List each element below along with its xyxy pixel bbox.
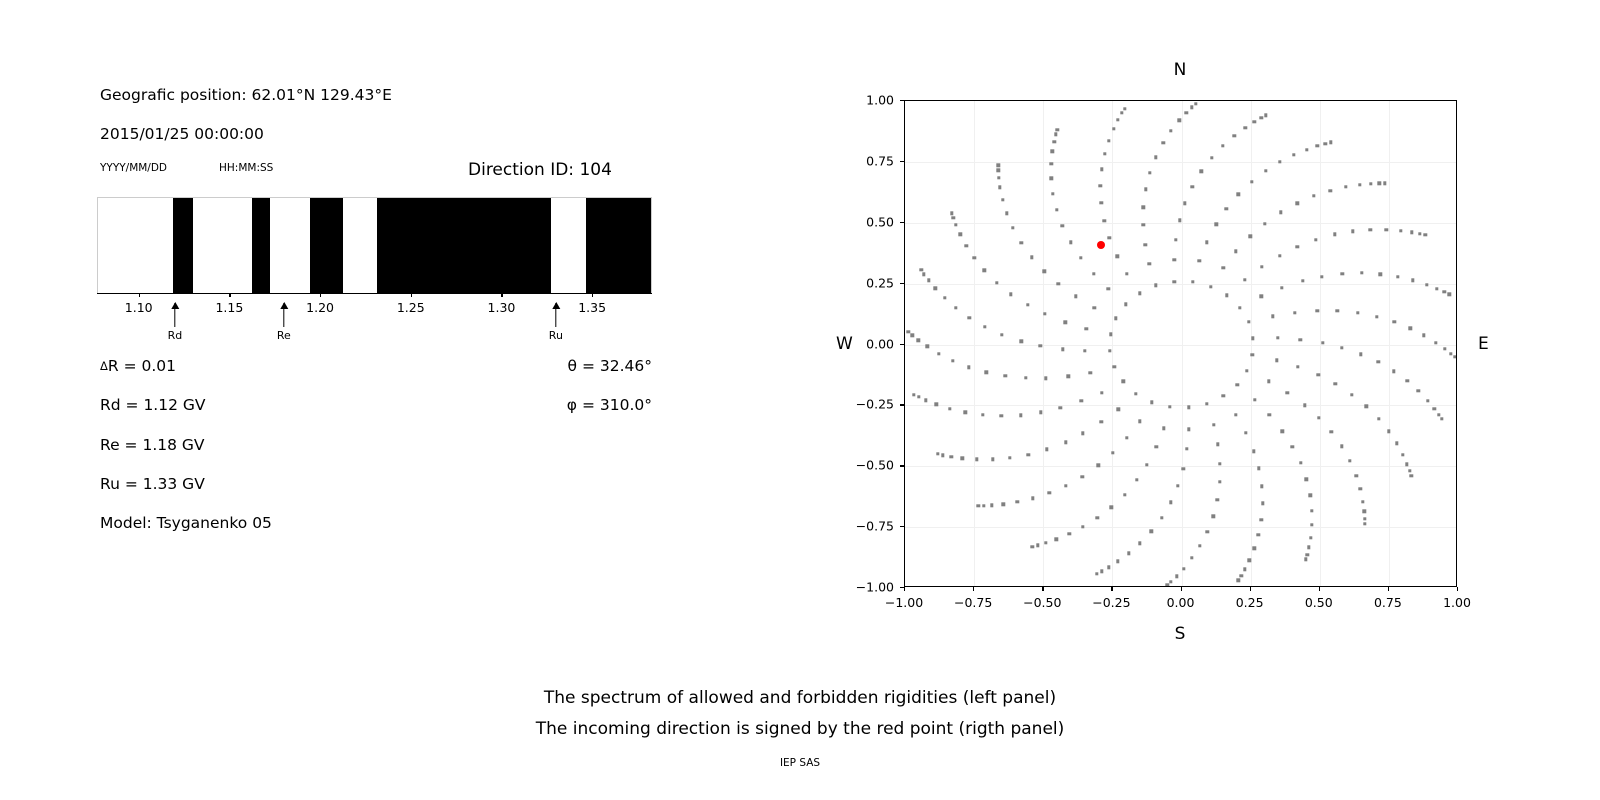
scatter-point xyxy=(936,452,939,455)
scatter-point xyxy=(1121,380,1124,383)
y-axis-tick-mark xyxy=(900,465,904,466)
scatter-point xyxy=(954,223,957,226)
scatter-point xyxy=(1267,380,1270,383)
scatter-point xyxy=(1113,365,1116,368)
scatter-point xyxy=(998,186,1001,189)
scatter-point xyxy=(1191,185,1194,188)
scatter-point xyxy=(1054,133,1057,136)
scatter-point xyxy=(1316,373,1319,376)
scatter-point xyxy=(1112,127,1115,130)
y-axis-tick-label: −0.75 xyxy=(848,519,894,534)
scatter-point xyxy=(1169,501,1172,504)
scatter-point xyxy=(1050,162,1053,165)
scatter-point xyxy=(1245,369,1248,372)
scatter-point xyxy=(1000,333,1003,336)
scatter-point xyxy=(1448,293,1451,296)
scatter-point xyxy=(958,232,961,235)
scatter-point xyxy=(917,338,920,341)
scatter-point xyxy=(1027,453,1030,456)
scatter-point xyxy=(1095,572,1098,575)
scatter-point xyxy=(1190,106,1193,109)
scatter-point xyxy=(1069,241,1072,244)
scatter-point xyxy=(1096,516,1099,519)
scatter-point xyxy=(1099,184,1102,187)
y-axis-tick-label: 0.00 xyxy=(848,336,894,351)
scatter-point xyxy=(1221,144,1224,147)
scatter-point xyxy=(1194,102,1197,105)
scatter-point xyxy=(1321,341,1324,344)
gridline-vertical xyxy=(1112,101,1113,586)
scatter-point xyxy=(1116,255,1119,258)
y-axis-tick-mark xyxy=(900,526,904,527)
gridline-horizontal xyxy=(905,527,1456,528)
scatter-point xyxy=(1279,211,1282,214)
scatter-point xyxy=(1166,584,1169,587)
scatter-point xyxy=(1299,461,1302,464)
scatter-point xyxy=(1116,118,1119,121)
scatter-point xyxy=(927,279,930,282)
scatter-point xyxy=(997,176,1000,179)
scatter-point xyxy=(1268,413,1271,416)
scatter-point xyxy=(1218,462,1221,465)
scatter-point xyxy=(1125,272,1128,275)
scatter-point xyxy=(1291,445,1294,448)
scatter-point xyxy=(1019,340,1022,343)
scatter-point xyxy=(1026,303,1029,306)
gridline-vertical xyxy=(974,101,975,586)
scatter-point xyxy=(1399,229,1402,232)
scatter-point xyxy=(1443,347,1446,350)
scatter-point xyxy=(1260,265,1263,268)
scatter-point xyxy=(1117,407,1120,410)
scatter-point xyxy=(1340,445,1343,448)
scatter-point xyxy=(1340,346,1343,349)
scatter-point xyxy=(1379,272,1382,275)
scatter-point xyxy=(1216,443,1219,446)
scatter-point xyxy=(1169,580,1172,583)
scatter-point xyxy=(1064,484,1067,487)
scatter-point xyxy=(975,458,978,461)
gridline-vertical xyxy=(1251,101,1252,586)
scatter-point xyxy=(1392,369,1395,372)
y-axis-tick-label: 1.00 xyxy=(848,93,894,108)
scatter-point xyxy=(967,365,970,368)
x-axis-tick-mark xyxy=(904,587,905,591)
scatter-point xyxy=(1405,462,1408,465)
scatter-point xyxy=(1051,192,1054,195)
scatter-point xyxy=(948,407,951,410)
scatter-point xyxy=(991,458,994,461)
scatter-point xyxy=(1125,436,1128,439)
x-axis-tick-mark xyxy=(1319,587,1320,591)
scatter-point xyxy=(1355,474,1358,477)
scatter-point xyxy=(1154,155,1157,158)
scatter-point xyxy=(1162,427,1165,430)
scatter-point xyxy=(982,504,985,507)
scatter-point xyxy=(1358,183,1361,186)
scatter-point xyxy=(1067,375,1070,378)
scatter-point xyxy=(1252,450,1255,453)
scatter-point xyxy=(1083,349,1086,352)
scatter-point xyxy=(1103,219,1106,222)
scatter-point xyxy=(1016,500,1019,503)
scatter-point xyxy=(1114,317,1117,320)
gridline-horizontal xyxy=(905,223,1456,224)
scatter-point xyxy=(1135,478,1138,481)
scatter-point xyxy=(1244,431,1247,434)
scatter-point xyxy=(1210,156,1213,159)
scatter-point xyxy=(1173,280,1176,283)
scatter-point xyxy=(1251,353,1254,356)
scatter-point xyxy=(1148,262,1151,265)
scatter-point xyxy=(1409,474,1412,477)
scatter-point xyxy=(961,456,964,459)
scatter-point xyxy=(1030,255,1033,258)
scatter-point xyxy=(1116,560,1119,563)
scatter-point xyxy=(1068,532,1071,535)
scatter-point xyxy=(1169,129,1172,132)
scatter-point xyxy=(1009,293,1012,296)
scatter-point xyxy=(1205,240,1208,243)
scatter-point xyxy=(1320,275,1323,278)
scatter-point xyxy=(937,352,940,355)
scatter-point xyxy=(1281,429,1284,432)
scatter-point xyxy=(1260,484,1263,487)
gridline-vertical xyxy=(1389,101,1390,586)
scatter-point xyxy=(1211,515,1214,518)
scatter-point xyxy=(1257,533,1260,536)
scatter-point xyxy=(952,216,955,219)
y-axis-tick-label: 0.25 xyxy=(848,275,894,290)
scatter-point xyxy=(1424,233,1427,236)
scatter-point xyxy=(1154,445,1157,448)
scatter-point xyxy=(1303,404,1306,407)
scatter-point xyxy=(922,273,925,276)
scatter-point xyxy=(1280,286,1283,289)
scatter-point xyxy=(1453,355,1456,358)
scatter-point xyxy=(997,169,1000,172)
scatter-point xyxy=(1110,506,1113,509)
scatter-point xyxy=(1437,413,1440,416)
scatter-point xyxy=(1312,194,1315,197)
scatter-point xyxy=(1385,228,1388,231)
scatter-point xyxy=(1369,182,1372,185)
scatter-point xyxy=(1393,320,1396,323)
scatter-point xyxy=(1081,432,1084,435)
direction-map-panel: −1.00−0.75−0.50−0.250.000.250.500.751.00… xyxy=(0,0,1600,680)
scatter-point xyxy=(1055,208,1058,211)
scatter-point xyxy=(1257,467,1260,470)
scatter-point xyxy=(1176,484,1179,487)
scatter-point xyxy=(1061,224,1064,227)
scatter-point xyxy=(906,330,909,333)
scatter-point xyxy=(1031,545,1034,548)
scatter-point xyxy=(1005,212,1008,215)
x-axis-tick-mark xyxy=(1457,587,1458,591)
scatter-point xyxy=(1248,559,1251,562)
scatter-point xyxy=(1359,352,1362,355)
x-axis-tick-mark xyxy=(1250,587,1251,591)
scatter-point xyxy=(1310,509,1313,512)
scatter-point xyxy=(1314,238,1317,241)
scatter-point xyxy=(1039,344,1042,347)
scatter-point xyxy=(1142,223,1145,226)
scatter-point xyxy=(1237,579,1240,582)
scatter-point xyxy=(1276,336,1279,339)
scatter-point xyxy=(1285,391,1288,394)
x-axis-tick-label: 0.75 xyxy=(1374,595,1402,610)
scatter-point xyxy=(1124,303,1127,306)
scatter-point xyxy=(1187,406,1190,409)
scatter-point xyxy=(1185,447,1188,450)
scatter-point xyxy=(973,256,976,259)
scatter-point xyxy=(1185,111,1188,114)
scatter-point xyxy=(1161,141,1164,144)
scatter-point xyxy=(1081,525,1084,528)
scatter-point xyxy=(1435,287,1438,290)
x-axis-tick-label: −1.00 xyxy=(885,595,923,610)
scatter-point xyxy=(1425,283,1428,286)
y-axis-tick-mark xyxy=(900,100,904,101)
scatter-point xyxy=(1376,360,1379,363)
scatter-point xyxy=(1048,491,1051,494)
scatter-point xyxy=(1205,402,1208,405)
scatter-point xyxy=(1309,536,1312,539)
scatter-point xyxy=(1299,338,1302,341)
scatter-point xyxy=(968,316,971,319)
gridline-vertical xyxy=(1043,101,1044,586)
x-axis-tick-label: −0.75 xyxy=(954,595,992,610)
scatter-point xyxy=(1301,279,1304,282)
scatter-point xyxy=(1333,233,1336,236)
scatter-point xyxy=(1052,140,1055,143)
scatter-point xyxy=(1260,116,1263,119)
x-axis-tick-label: 0.25 xyxy=(1236,595,1264,610)
scatter-point xyxy=(1175,575,1178,578)
scatter-point xyxy=(997,164,1000,167)
scatter-point xyxy=(1059,406,1062,409)
scatter-point xyxy=(1150,530,1153,533)
scatter-point xyxy=(1064,320,1067,323)
scatter-point xyxy=(1275,359,1278,362)
scatter-point xyxy=(1330,430,1333,433)
scatter-point xyxy=(1271,315,1274,318)
scatter-point xyxy=(1182,467,1185,470)
scatter-point xyxy=(1434,341,1437,344)
scatter-point xyxy=(1308,494,1311,497)
scatter-point xyxy=(1249,234,1252,237)
scatter-point xyxy=(912,393,915,396)
scatter-point xyxy=(1243,568,1246,571)
scatter-point xyxy=(1079,256,1082,259)
scatter-point xyxy=(1222,266,1225,269)
scatter-point xyxy=(1055,538,1058,541)
scatter-point xyxy=(1296,245,1299,248)
scatter-point xyxy=(1008,456,1011,459)
scatter-point xyxy=(1305,553,1308,556)
compass-west-label: W xyxy=(836,334,853,354)
scatter-point xyxy=(1178,219,1181,222)
scatter-point xyxy=(1198,544,1201,547)
y-axis-tick-mark xyxy=(900,222,904,223)
scatter-point xyxy=(1387,430,1390,433)
scatter-point xyxy=(1316,144,1319,147)
scatter-point xyxy=(1024,376,1027,379)
scatter-point xyxy=(1107,139,1110,142)
scatter-point xyxy=(1019,413,1022,416)
scatter-point xyxy=(1263,222,1266,225)
scatter-point xyxy=(1051,150,1054,153)
scatter-point xyxy=(1055,128,1058,131)
y-axis-tick-label: −0.50 xyxy=(848,458,894,473)
scatter-point xyxy=(1222,394,1225,397)
scatter-point xyxy=(1011,226,1014,229)
compass-north-label: N xyxy=(1174,60,1187,80)
scatter-point xyxy=(1295,202,1298,205)
scatter-point xyxy=(1127,551,1130,554)
scatter-point xyxy=(1092,272,1095,275)
scatter-point xyxy=(935,403,938,406)
scatter-point xyxy=(1239,574,1242,577)
scatter-point xyxy=(1107,566,1110,569)
scatter-point xyxy=(1138,542,1141,545)
scatter-point xyxy=(1233,134,1236,137)
scatter-point xyxy=(1191,280,1194,283)
scatter-point xyxy=(1361,500,1364,503)
scatter-point xyxy=(1363,522,1366,525)
scatter-point xyxy=(1369,228,1372,231)
scatter-point xyxy=(1250,180,1253,183)
scatter-point xyxy=(1212,423,1215,426)
scatter-point xyxy=(1019,241,1022,244)
scatter-point xyxy=(1173,258,1176,261)
scatter-point xyxy=(1215,222,1218,225)
scatter-point xyxy=(1417,389,1420,392)
scatter-point xyxy=(1378,182,1381,185)
scatter-point xyxy=(1234,413,1237,416)
gridline-vertical xyxy=(1182,101,1183,586)
scatter-point xyxy=(965,244,968,247)
scatter-point xyxy=(1145,463,1148,466)
scatter-point xyxy=(1363,517,1366,520)
y-axis-tick-label: −0.25 xyxy=(848,397,894,412)
y-axis-tick-mark xyxy=(900,587,904,588)
scatter-point xyxy=(1317,416,1320,419)
scatter-point xyxy=(1278,160,1281,163)
scatter-point xyxy=(1362,510,1365,513)
scatter-point xyxy=(943,296,946,299)
scatter-point xyxy=(954,306,957,309)
y-axis-tick-mark xyxy=(900,283,904,284)
scatter-point xyxy=(1310,523,1313,526)
y-axis-tick-label: −1.00 xyxy=(848,580,894,595)
scatter-point xyxy=(1411,279,1414,282)
scatter-point xyxy=(1304,558,1307,561)
scatter-point xyxy=(1292,153,1295,156)
scatter-point xyxy=(1307,546,1310,549)
scatter-point xyxy=(1408,469,1411,472)
gridline-horizontal xyxy=(905,466,1456,467)
y-axis-tick-mark xyxy=(900,161,904,162)
scatter-point xyxy=(1198,259,1201,262)
scatter-point xyxy=(983,269,986,272)
scatter-point xyxy=(1100,201,1103,204)
scatter-point xyxy=(995,281,998,284)
scatter-point xyxy=(1043,270,1046,273)
scatter-point xyxy=(934,287,937,290)
gridline-horizontal xyxy=(905,405,1456,406)
scatter-point xyxy=(1422,334,1425,337)
scatter-point xyxy=(1251,336,1254,339)
scatter-point xyxy=(1247,320,1250,323)
scatter-point xyxy=(1440,417,1443,420)
x-axis-tick-mark xyxy=(973,587,974,591)
scatter-point xyxy=(910,334,913,337)
scatter-point xyxy=(964,411,967,414)
scatter-point xyxy=(976,504,979,507)
scatter-point xyxy=(1111,451,1114,454)
scatter-point xyxy=(1216,498,1219,501)
caption-line-1: The spectrum of allowed and forbidden ri… xyxy=(0,688,1600,708)
scatter-point xyxy=(1253,120,1256,123)
x-axis-tick-mark xyxy=(1111,587,1112,591)
scatter-point xyxy=(1205,530,1208,533)
scatter-point xyxy=(1443,290,1446,293)
scatter-point xyxy=(1395,442,1398,445)
x-axis-tick-label: 1.00 xyxy=(1443,595,1471,610)
scatter-point xyxy=(1123,493,1126,496)
scatter-point xyxy=(1100,570,1103,573)
scatter-point xyxy=(1264,114,1267,117)
scatter-point xyxy=(1348,459,1351,462)
scatter-point xyxy=(1085,327,1088,330)
scatter-point xyxy=(1001,198,1004,201)
scatter-point xyxy=(1108,236,1111,239)
compass-east-label: E xyxy=(1478,334,1489,354)
y-axis-tick-mark xyxy=(900,344,904,345)
scatter-point xyxy=(985,371,988,374)
x-axis-tick-label: −0.50 xyxy=(1023,595,1061,610)
scatter-point xyxy=(1134,392,1137,395)
scatter-point xyxy=(1334,382,1337,385)
scatter-point xyxy=(983,325,986,328)
scatter-point xyxy=(1031,497,1034,500)
y-axis-tick-mark xyxy=(900,404,904,405)
scatter-point xyxy=(1097,464,1100,467)
scatter-point xyxy=(1142,206,1145,209)
scatter-point xyxy=(1375,315,1378,318)
scatter-point xyxy=(1074,295,1077,298)
scatter-point xyxy=(1406,379,1409,382)
scatter-point xyxy=(1324,142,1327,145)
scatter-point xyxy=(1278,254,1281,257)
x-axis-tick-mark xyxy=(1042,587,1043,591)
scatter-point xyxy=(1341,272,1344,275)
scatter-point xyxy=(1237,193,1240,196)
scatter-point xyxy=(1150,401,1153,404)
compass-south-label: S xyxy=(1175,624,1186,644)
scatter-point xyxy=(1296,365,1299,368)
scatter-point xyxy=(1225,207,1228,210)
scatter-point xyxy=(1044,541,1047,544)
scatter-point xyxy=(1235,383,1238,386)
caption-line-2: The incoming direction is signed by the … xyxy=(0,719,1600,739)
scatter-point xyxy=(1154,284,1157,287)
scatter-point xyxy=(1336,309,1339,312)
scatter-point xyxy=(1106,287,1109,290)
scatter-point xyxy=(917,395,920,398)
scatter-point xyxy=(1045,448,1048,451)
